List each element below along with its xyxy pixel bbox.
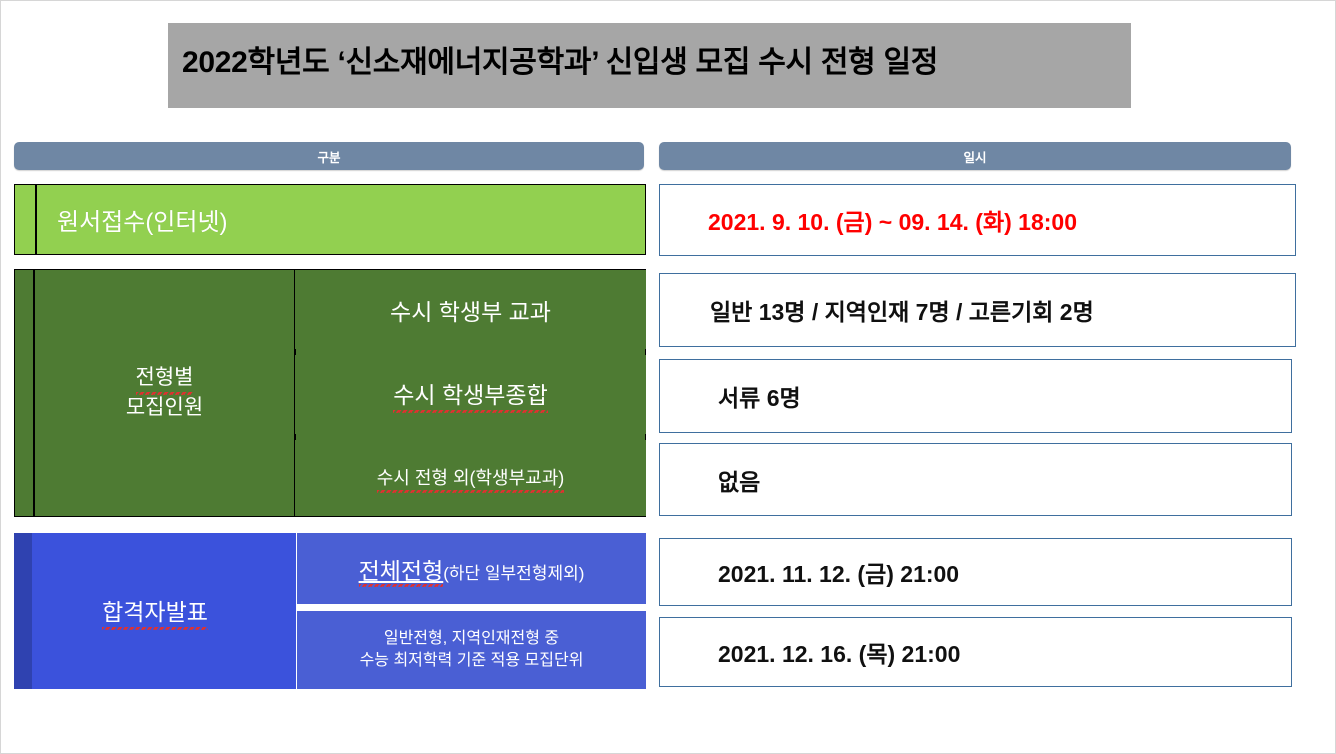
subrow-all-types-value-cell: 2021. 11. 12. (금) 21:00	[659, 538, 1292, 606]
row-announcement-category-cell: 합격자발표 전체전형(하단 일부전형제외) 일반전형, 지역인재전형 중 수능 …	[14, 533, 646, 689]
row-application-value-text: 2021. 9. 10. (금) ~ 09. 14. (화) 18:00	[660, 203, 1077, 237]
subrow-all-types-label-sub: (하단 일부전형제외)	[443, 564, 584, 583]
subrow-min-score-value-text: 2021. 12. 16. (목) 21:00	[660, 635, 960, 669]
subrow-min-score-label: 일반전형, 지역인재전형 중 수능 최저학력 기준 적용 모집단위	[297, 611, 646, 689]
page-title: 2022학년도 ‘신소재에너지공학과’ 신입생 모집 수시 전형 일정	[182, 37, 938, 81]
subrow-susi-gyogwa-label: 수시 학생부 교과	[295, 270, 646, 349]
subrow-susi-other-value-cell: 없음	[659, 443, 1292, 516]
subrow-susi-jonghap-label-text: 수시 학생부종합	[393, 376, 548, 413]
row-quota-category-cell: 전형별 모집인원 수시 학생부 교과 수시 학생부종합 수시 전형 외(학생부교…	[14, 269, 646, 517]
accent-divider	[35, 185, 37, 254]
row-application-category-label: 원서접수(인터넷)	[47, 185, 645, 254]
column-header-datetime-label: 일시	[963, 147, 986, 166]
row-announcement-category-label: 합격자발표	[14, 533, 296, 689]
subrow-min-score-value-cell: 2021. 12. 16. (목) 21:00	[659, 617, 1292, 687]
title-banner: 2022학년도 ‘신소재에너지공학과’ 신입생 모집 수시 전형 일정	[168, 23, 1131, 108]
subrow-min-score-label-line2: 수능 최저학력 기준 적용 모집단위	[360, 652, 584, 669]
subrow-all-types-label-main: 전체전형	[359, 558, 444, 587]
column-header-category: 구분	[14, 142, 644, 170]
subrow-susi-jonghap-label: 수시 학생부종합	[295, 355, 646, 434]
accent-bar	[14, 533, 32, 689]
subrow-susi-other-value-text: 없음	[660, 463, 760, 497]
subrow-susi-gyogwa-label-text: 수시 학생부 교과	[390, 293, 551, 327]
subrow-susi-gyogwa-value-text: 일반 13명 / 지역인재 7명 / 고른기회 2명	[660, 293, 1094, 327]
row-quota-category-label-line2: 모집인원	[126, 395, 203, 421]
row-announcement-category-label-text: 합격자발표	[102, 593, 208, 630]
subrow-all-types-value-text: 2021. 11. 12. (금) 21:00	[660, 555, 959, 589]
row-quota-category-label-line1: 전형별	[136, 365, 194, 394]
subrow-susi-gyogwa-value-cell: 일반 13명 / 지역인재 7명 / 고른기회 2명	[659, 273, 1296, 347]
subrow-susi-jonghap-value-text: 서류 6명	[660, 379, 801, 413]
row-application-category-cell: 원서접수(인터넷)	[14, 184, 646, 255]
row-quota-category-label: 전형별 모집인원	[35, 270, 294, 516]
column-header-datetime: 일시	[659, 142, 1291, 170]
subrow-all-types-label: 전체전형(하단 일부전형제외)	[297, 533, 646, 604]
slide-canvas: 2022학년도 ‘신소재에너지공학과’ 신입생 모집 수시 전형 일정 구분 일…	[0, 0, 1336, 754]
column-header-category-label: 구분	[317, 147, 340, 166]
subrow-susi-other-label-text: 수시 전형 외(학생부교과)	[377, 464, 565, 493]
row-application-value-cell: 2021. 9. 10. (금) ~ 09. 14. (화) 18:00	[659, 184, 1296, 256]
subrow-susi-other-label: 수시 전형 외(학생부교과)	[295, 440, 646, 516]
accent-divider	[32, 533, 34, 689]
subrow-min-score-label-line1: 일반전형, 지역인재전형 중	[384, 630, 559, 647]
subrow-susi-jonghap-value-cell: 서류 6명	[659, 359, 1292, 433]
